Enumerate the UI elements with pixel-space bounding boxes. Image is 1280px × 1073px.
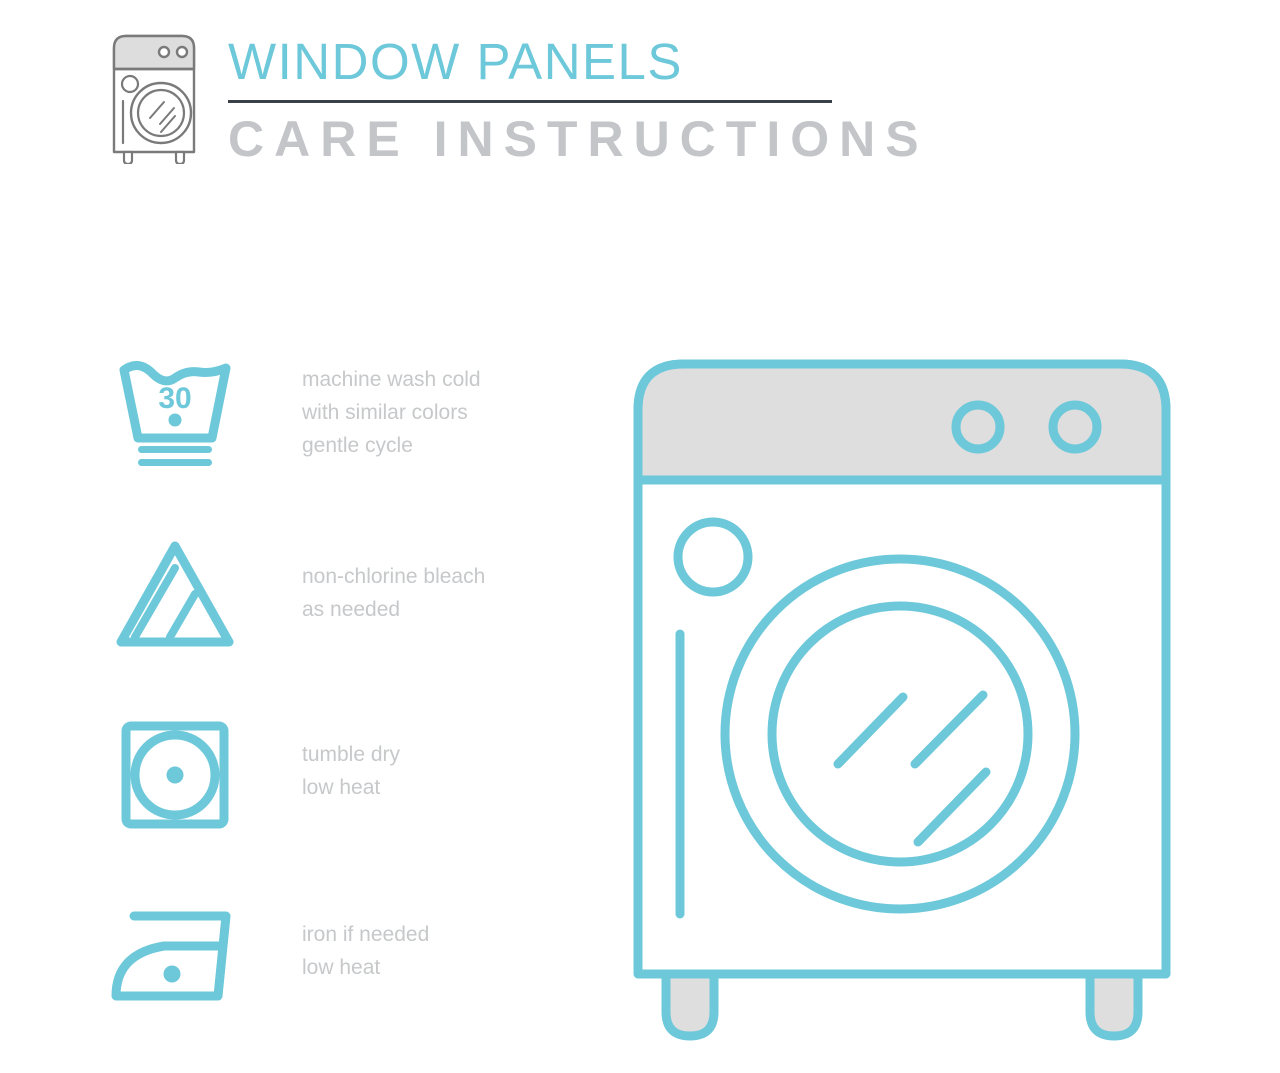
care-text-line: machine wash cold (302, 363, 562, 396)
care-instruction-item: non-chlorine bleach as needed (100, 530, 570, 710)
detergent-dispenser (678, 522, 748, 592)
knob-left (956, 405, 1000, 449)
wash-temperature-label: 30 (158, 382, 191, 415)
care-instruction-text: tumble dry low heat (302, 738, 562, 804)
care-text-line: low heat (302, 771, 562, 804)
page-title: WINDOW PANELS (228, 36, 928, 87)
care-instruction-item: tumble dry low heat (100, 710, 570, 890)
care-instruction-item: iron if needed low heat (100, 890, 570, 1070)
care-text-line: tumble dry (302, 738, 562, 771)
care-instruction-item: 30 machine wash cold with similar colors… (100, 350, 570, 530)
care-instruction-text: machine wash cold with similar colors ge… (302, 363, 562, 462)
care-text-line: gentle cycle (302, 429, 562, 462)
knob-right (1053, 405, 1097, 449)
care-text-line: iron if needed (302, 918, 562, 951)
tumble-dry-icon (100, 710, 250, 840)
page-header: WINDOW PANELS CARE INSTRUCTIONS (0, 0, 1280, 190)
care-instruction-list: 30 machine wash cold with similar colors… (100, 350, 570, 1070)
care-text-line: with similar colors (302, 396, 562, 429)
page-subtitle: CARE INSTRUCTIONS (228, 114, 928, 164)
wash-tub-icon: 30 (100, 350, 250, 480)
care-instruction-text: non-chlorine bleach as needed (302, 560, 562, 626)
care-instruction-text: iron if needed low heat (302, 918, 562, 984)
care-text-line: as needed (302, 593, 562, 626)
bleach-triangle-icon (100, 530, 250, 660)
header-text-block: WINDOW PANELS CARE INSTRUCTIONS (228, 36, 928, 164)
title-divider (228, 100, 832, 103)
care-text-line: non-chlorine bleach (302, 560, 562, 593)
washing-machine-illustration (628, 352, 1176, 1052)
door-inner-ring (772, 606, 1028, 862)
care-text-line: low heat (302, 951, 562, 984)
iron-icon (100, 890, 250, 1020)
washing-machine-icon (106, 26, 202, 164)
